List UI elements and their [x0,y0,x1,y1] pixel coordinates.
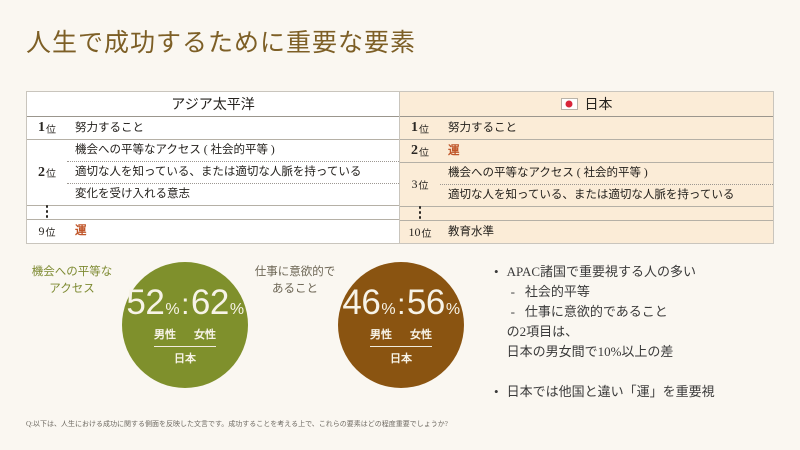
table-row: 1位 努力すること [27,117,399,140]
male-value-equality: 52 [126,285,164,320]
dash-marker-icon: - [511,302,515,322]
percent-sign: % [230,302,244,318]
circle-caption-equality-line1: 機会への平等な [18,264,126,281]
stat-ratio-ambition: 46%:56% [342,285,459,320]
rank-items: 努力すること [440,117,773,139]
rank-label: 9位 [27,220,67,242]
male-label: 男性 [154,326,176,342]
vertical-ellipsis-icon [400,207,440,219]
rank-number: 10 [409,225,421,240]
ratio-separator: : [181,290,189,320]
rank-label: 1位 [27,117,67,139]
table-row: 10位 教育水準 [400,221,773,243]
rank-number: 3 [412,177,418,192]
country-label-ambition: 日本 [370,346,432,366]
stat-circle-ambition: 46%:56% 男性 女性 日本 [338,262,464,388]
bullet-marker-icon: • [494,262,499,362]
circle-caption-equality-line2: アクセス [18,281,126,298]
japan-flag-icon [561,98,578,110]
country-label-equality: 日本 [154,346,216,366]
rank-suffix: 位 [419,121,429,136]
list-item: 機会への平等なアクセス ( 社会的平等 ) [67,140,399,161]
rank-suffix: 位 [422,225,432,240]
insight-bullet-2-body: 日本では他国と違い「運」を重要視 [507,382,794,402]
insight-sub-item: - 仕事に意欲的であること [507,302,794,322]
rank-suffix: 位 [419,177,429,192]
rank-number: 1 [411,120,418,136]
rank-suffix: 位 [46,121,56,136]
column-header-apac: アジア太平洋 [27,92,399,117]
page-title: 人生で成功するために重要な要素 [26,23,416,59]
list-item: 努力すること [440,118,773,139]
stat-circle-equality: 52%:62% 男性 女性 日本 [122,262,248,388]
table-row: 3位 機会への平等なアクセス ( 社会的平等 ) 適切な人を知っている、または適… [400,163,773,207]
male-label: 男性 [370,326,392,342]
gender-labels-equality: 男性 女性 [154,326,216,342]
female-label: 女性 [194,326,216,342]
female-value-equality: 62 [191,285,229,320]
percent-sign: % [165,302,179,318]
rank-suffix: 位 [46,165,56,180]
table-column-japan: 日本 1位 努力すること 2位 運 3位 機会への平等なアクセス ( 社会的平等… [400,92,774,243]
rank-items: 機会への平等なアクセス ( 社会的平等 ) 適切な人を知っている、または適切な人… [67,140,399,205]
list-item: 教育水準 [440,222,773,243]
table-row-ellipsis [400,207,773,221]
rank-items: 運 [67,220,399,242]
rank-items: 運 [440,140,773,162]
insight-sub-item-label: 社会的平等 [525,282,590,302]
insight-sub-item: - 社会的平等 [507,282,794,302]
list-item: 運 [440,141,773,162]
rank-items: 努力すること [67,117,399,139]
rank-label: 1位 [400,117,440,139]
ranking-comparison-table: アジア太平洋 1位 努力すること 2位 機会への平等なアクセス ( 社会的平等 … [26,91,774,244]
insights-list: • APAC諸国で重要視する人の多い - 社会的平等 - 仕事に意欲的であること… [494,262,794,402]
bullet-marker-icon: • [494,382,499,402]
rank-number: 1 [38,120,45,136]
insight-bullet-1-tail-line2: 日本の男女間で10%以上の差 [507,342,794,362]
stat-ratio-equality: 52%:62% [126,285,243,320]
rank-items: 機会への平等なアクセス ( 社会的平等 ) 適切な人を知っている、または適切な人… [440,163,773,206]
rank-items: 教育水準 [440,221,773,243]
table-row: 1位 努力すること [400,117,773,140]
column-header-japan-label: 日本 [585,94,613,114]
rank-label: 2位 [400,140,440,162]
circle-caption-ambition-line1: 仕事に意欲的で [243,264,347,281]
percent-sign: % [381,302,395,318]
list-item: 適切な人を知っている、または適切な人脈を持っている [440,184,773,206]
table-row: 2位 運 [400,140,773,163]
insight-sub-item-label: 仕事に意欲的であること [525,302,668,322]
insight-sub-list: - 社会的平等 - 仕事に意欲的であること [507,282,794,322]
circle-caption-equality: 機会への平等な アクセス [18,264,126,298]
table-row: 9位 運 [27,220,399,242]
list-item: 機会への平等なアクセス ( 社会的平等 ) [440,163,773,184]
rank-label: 10位 [400,221,440,243]
rank-number: 2 [411,143,418,159]
insight-bullet-1: • APAC諸国で重要視する人の多い - 社会的平等 - 仕事に意欲的であること… [494,262,794,362]
list-item: 変化を受け入れる意志 [67,183,399,205]
dash-marker-icon: - [511,282,515,302]
vertical-ellipsis-icon [27,206,67,218]
female-value-ambition: 56 [407,285,445,320]
rank-label: 3位 [400,163,440,206]
rank-suffix: 位 [419,144,429,159]
insight-bullet-1-tail-line1: の2項目は、 [507,322,794,342]
column-header-apac-label: アジア太平洋 [171,94,254,114]
rank-label: 2位 [27,140,67,205]
footnote: Q:以下は、人生における成功に関する側面を反映した文言です。成功することを考える… [26,419,448,430]
list-item: 適切な人を知っている、または適切な人脈を持っている [67,161,399,183]
table-column-apac: アジア太平洋 1位 努力すること 2位 機会への平等なアクセス ( 社会的平等 … [26,92,400,243]
female-label: 女性 [410,326,432,342]
percent-sign: % [446,302,460,318]
rank-suffix: 位 [46,224,56,239]
circle-caption-ambition: 仕事に意欲的で あること [243,264,347,298]
insight-bullet-2-lead: 日本では他国と違い「運」を重要視 [507,382,794,402]
insight-bullet-1-body: APAC諸国で重要視する人の多い - 社会的平等 - 仕事に意欲的であること の… [507,262,794,362]
rank-number: 9 [39,224,45,239]
rank-number: 2 [38,165,45,181]
insight-bullet-1-lead: APAC諸国で重要視する人の多い [507,262,794,282]
circle-caption-ambition-line2: あること [243,281,347,298]
male-value-ambition: 46 [342,285,380,320]
gender-labels-ambition: 男性 女性 [370,326,432,342]
list-item: 運 [67,221,399,242]
ratio-separator: : [397,290,405,320]
list-item: 努力すること [67,118,399,139]
table-row-ellipsis [27,206,399,220]
column-header-japan: 日本 [400,92,773,117]
table-row: 2位 機会への平等なアクセス ( 社会的平等 ) 適切な人を知っている、または適… [27,140,399,206]
insight-bullet-2: • 日本では他国と違い「運」を重要視 [494,382,794,402]
